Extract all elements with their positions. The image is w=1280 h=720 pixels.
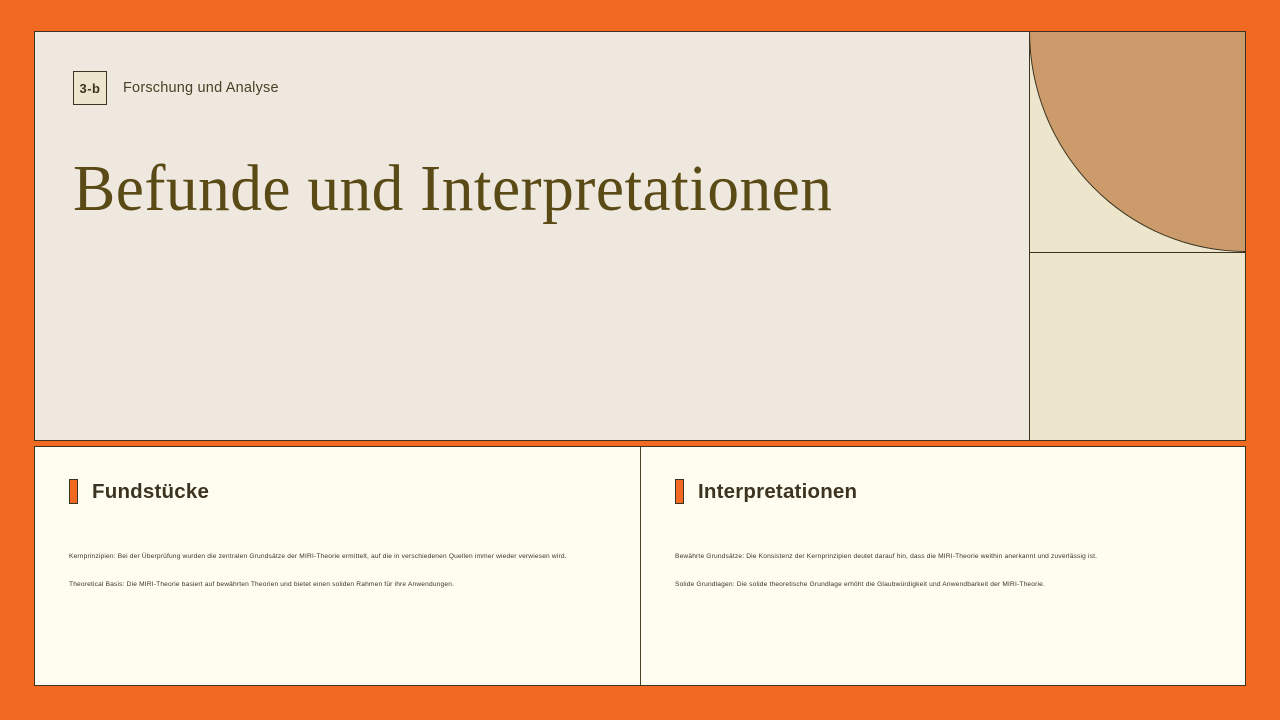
- card-header: Interpretationen: [675, 479, 1211, 504]
- hero-section: 3-b Forschung und Analyse Befunde und In…: [34, 31, 1246, 441]
- decor-panel-bottom: [1029, 252, 1247, 442]
- accent-bar-icon: [675, 479, 684, 504]
- accent-bar-icon: [69, 479, 78, 504]
- list-item: Solide Grundlagen: Die solide theoretisc…: [675, 580, 1211, 590]
- list-item: Theoretical Basis: Die MIRI-Theorie basi…: [69, 580, 606, 590]
- card-title: Interpretationen: [698, 480, 857, 504]
- slide-root: 3-b Forschung und Analyse Befunde und In…: [0, 0, 1280, 720]
- eyebrow-label: Forschung und Analyse: [123, 80, 279, 96]
- card-header: Fundstücke: [69, 479, 606, 504]
- decor-panel-top: [1029, 31, 1247, 253]
- list-item: Kernprinzipien: Bei der Überprüfung wurd…: [69, 552, 606, 562]
- page-title: Befunde und Interpretationen: [73, 154, 832, 223]
- section-badge: 3-b: [73, 71, 107, 105]
- card-findings: Fundstücke Kernprinzipien: Bei der Überp…: [35, 447, 640, 685]
- cards-container: Fundstücke Kernprinzipien: Bei der Überp…: [34, 446, 1246, 686]
- card-body: Bewährte Grundsätze: Die Konsistenz der …: [675, 552, 1211, 590]
- card-body: Kernprinzipien: Bei der Überprüfung wurd…: [69, 552, 606, 590]
- breadcrumb: 3-b Forschung und Analyse: [73, 71, 279, 105]
- list-item: Bewährte Grundsätze: Die Konsistenz der …: [675, 552, 1211, 562]
- card-interpretations: Interpretationen Bewährte Grundsätze: Di…: [640, 447, 1245, 685]
- quarter-circle-icon: [1029, 31, 1246, 252]
- card-title: Fundstücke: [92, 480, 209, 504]
